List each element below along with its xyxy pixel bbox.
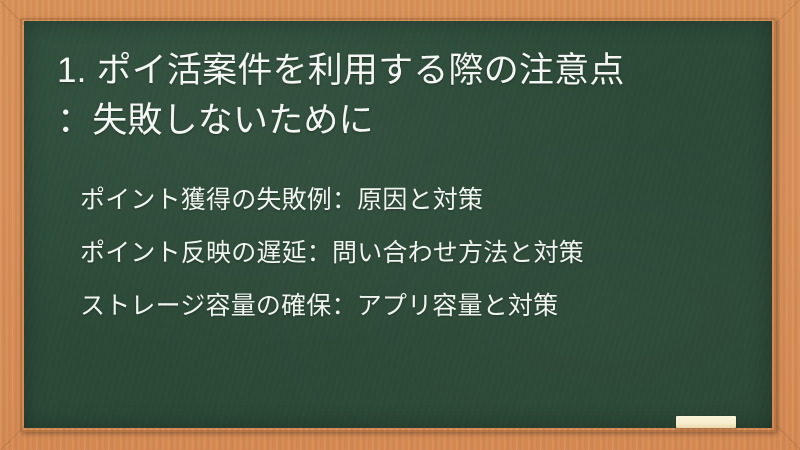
list-item: ストレージ容量の確保：アプリ容量と対策 bbox=[80, 280, 770, 333]
chalkboard-slide: 1. ポイ活案件を利用する際の注意点 ：失敗しないために ポイント獲得の失敗例：… bbox=[0, 0, 800, 450]
slide-title: 1. ポイ活案件を利用する際の注意点 ：失敗しないために bbox=[57, 46, 757, 146]
list-item: ポイント獲得の失敗例：原因と対策 bbox=[80, 174, 770, 227]
topic-list: ポイント獲得の失敗例：原因と対策 ポイント反映の遅延：問い合わせ方法と対策 スト… bbox=[80, 174, 770, 333]
list-item: ポイント反映の遅延：問い合わせ方法と対策 bbox=[80, 227, 770, 280]
chalkboard-surface: 1. ポイ活案件を利用する際の注意点 ：失敗しないために ポイント獲得の失敗例：… bbox=[24, 21, 772, 428]
chalk-stick-icon bbox=[676, 416, 736, 428]
